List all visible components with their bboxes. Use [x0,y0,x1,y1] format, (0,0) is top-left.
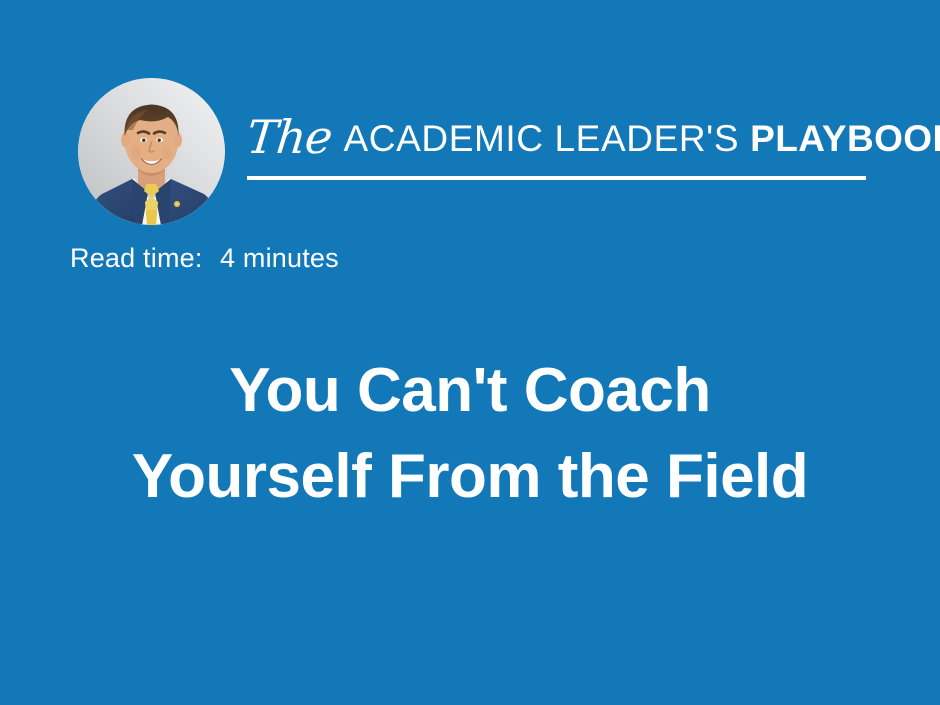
brand-logo-playbook: PLAYBOOK [750,120,940,157]
newsletter-slide: The ACADEMIC LEADER'S PLAYBOOK Read time… [0,0,940,705]
brand-logo-underline-rule [247,176,866,180]
brand-logo-text: The ACADEMIC LEADER'S PLAYBOOK [247,112,872,170]
avatar-portrait-icon [78,78,225,225]
brand-logo-the: The [245,114,334,160]
headline-line-2: Yourself From the Field [0,434,940,520]
avatar [78,78,225,225]
brand-logo: The ACADEMIC LEADER'S PLAYBOOK [247,112,872,190]
page-title: You Can't Coach Yourself From the Field [0,348,940,520]
read-time-label: Read time: [70,243,203,273]
read-time-value: 4 minutes [220,243,339,273]
brand-header: The ACADEMIC LEADER'S PLAYBOOK [0,0,940,240]
read-time: Read time: 4 minutes [70,243,339,274]
headline-line-1: You Can't Coach [0,348,940,434]
brand-logo-academic-leaders: ACADEMIC LEADER'S [344,120,740,157]
